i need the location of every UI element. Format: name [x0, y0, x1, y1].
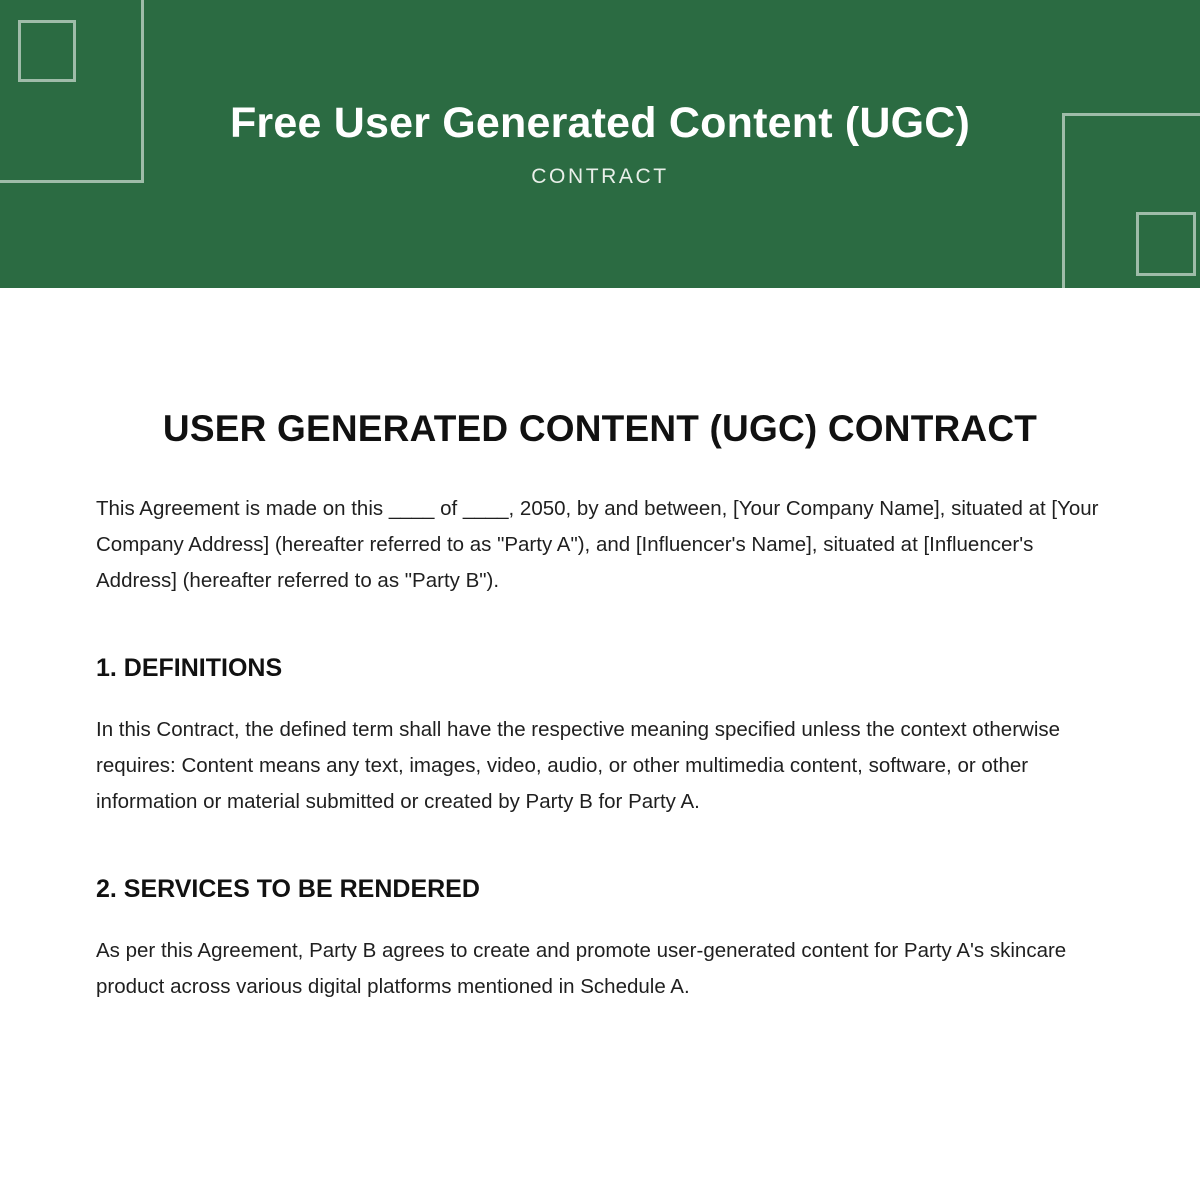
- banner-subtitle: CONTRACT: [0, 150, 1200, 190]
- document-page: Free User Generated Content (UGC) CONTRA…: [0, 0, 1200, 1200]
- banner-text-block: Free User Generated Content (UGC) CONTRA…: [0, 0, 1200, 190]
- section-body-services: As per this Agreement, Party B agrees to…: [96, 905, 1104, 1005]
- section-heading-definitions: 1. DEFINITIONS: [96, 599, 1104, 684]
- agreement-intro-paragraph: This Agreement is made on this ____ of _…: [96, 458, 1104, 599]
- document-body: USER GENERATED CONTENT (UGC) CONTRACT Th…: [0, 288, 1200, 1005]
- decorative-frame-bottom-right-inner: [1136, 212, 1196, 276]
- header-banner: Free User Generated Content (UGC) CONTRA…: [0, 0, 1200, 288]
- banner-title: Free User Generated Content (UGC): [0, 0, 1200, 150]
- section-body-definitions: In this Contract, the defined term shall…: [96, 684, 1104, 820]
- section-heading-services: 2. SERVICES TO BE RENDERED: [96, 820, 1104, 905]
- document-title: USER GENERATED CONTENT (UGC) CONTRACT: [96, 288, 1104, 458]
